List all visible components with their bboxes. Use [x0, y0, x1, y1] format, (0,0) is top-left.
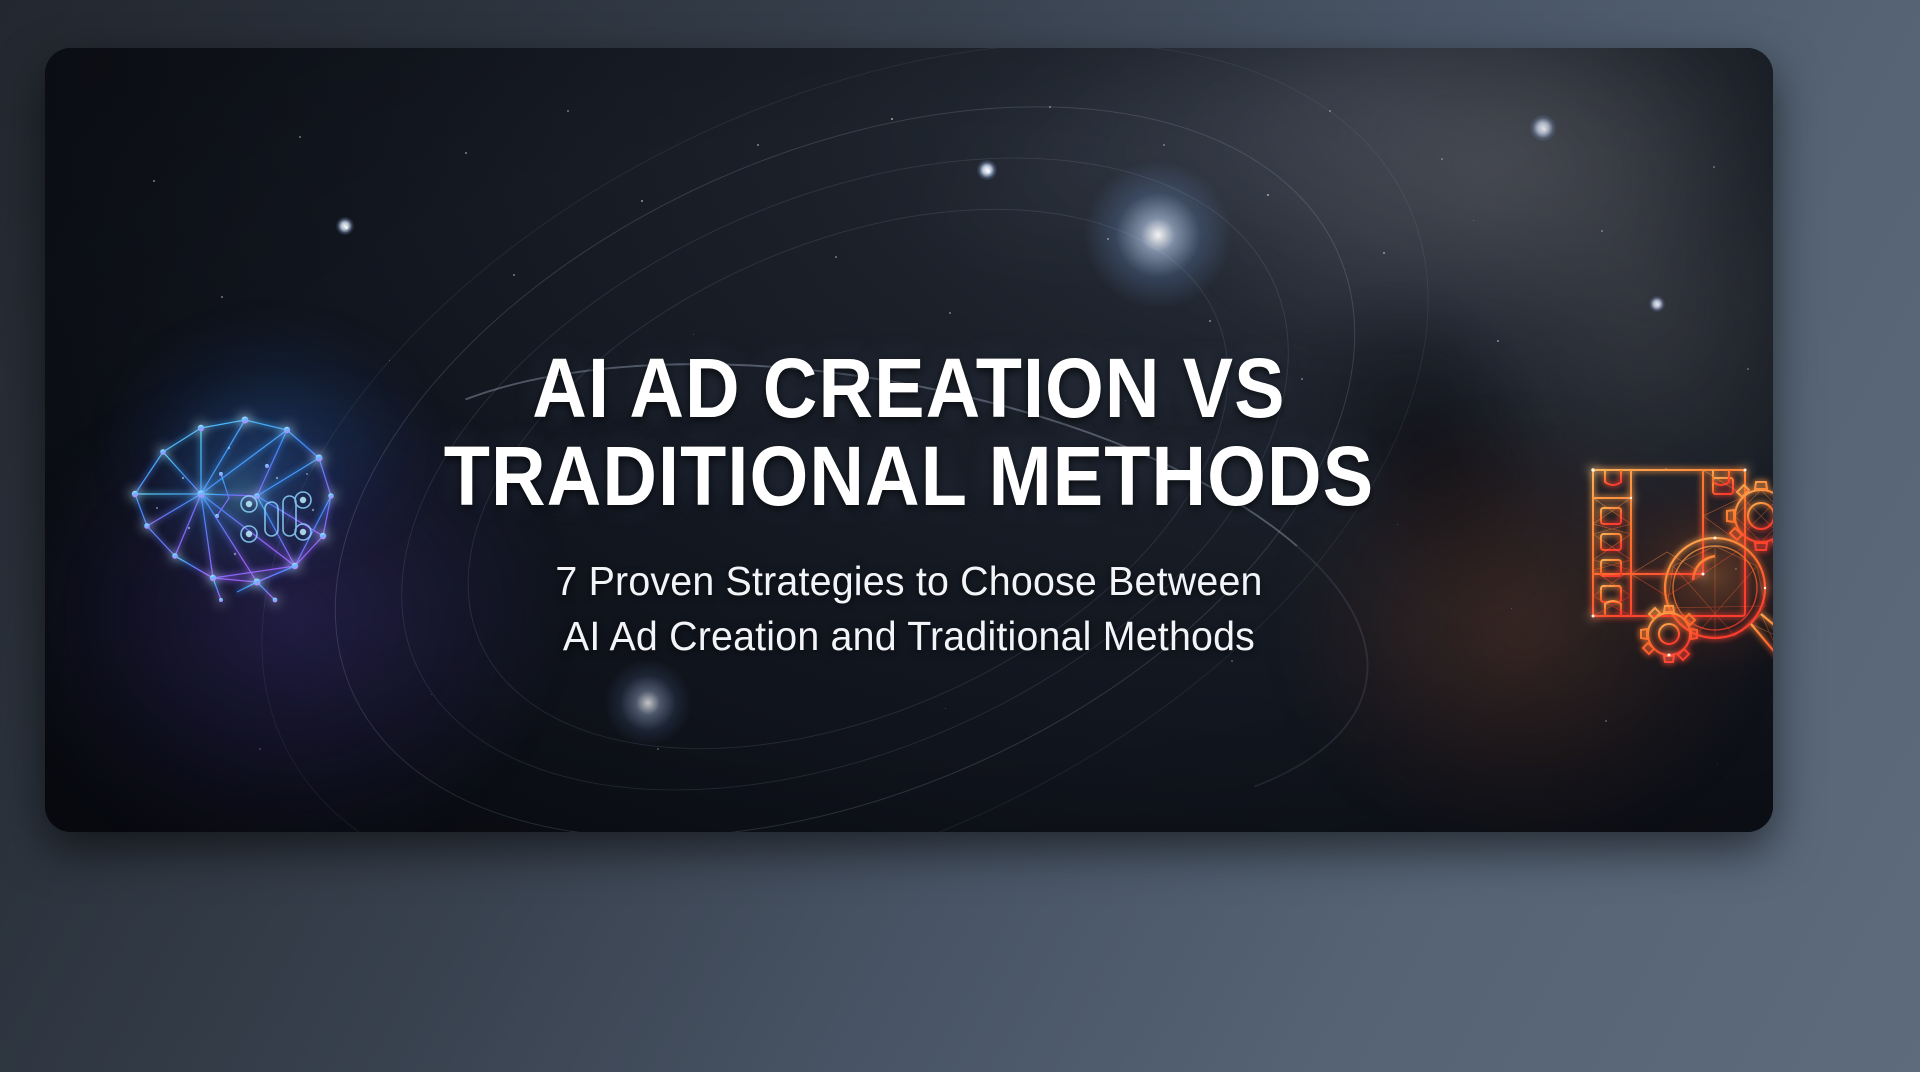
- page-subtitle: 7 Proven Strategies to Choose Between AI…: [45, 554, 1773, 664]
- hero-text-block: AI AD CREATION VS TRADITIONAL METHODS 7 …: [45, 344, 1773, 664]
- subtitle-line-1: 7 Proven Strategies to Choose Between: [80, 554, 1739, 609]
- orbit-glow-node-top: [1083, 160, 1233, 310]
- hero-card: AI AD CREATION VS TRADITIONAL METHODS 7 …: [45, 48, 1773, 832]
- page-title: AI AD CREATION VS TRADITIONAL METHODS: [45, 344, 1773, 520]
- subtitle-line-2: AI Ad Creation and Traditional Methods: [80, 609, 1739, 664]
- title-line-2: TRADITIONAL METHODS: [131, 432, 1686, 520]
- title-line-1: AI AD CREATION VS: [131, 344, 1686, 432]
